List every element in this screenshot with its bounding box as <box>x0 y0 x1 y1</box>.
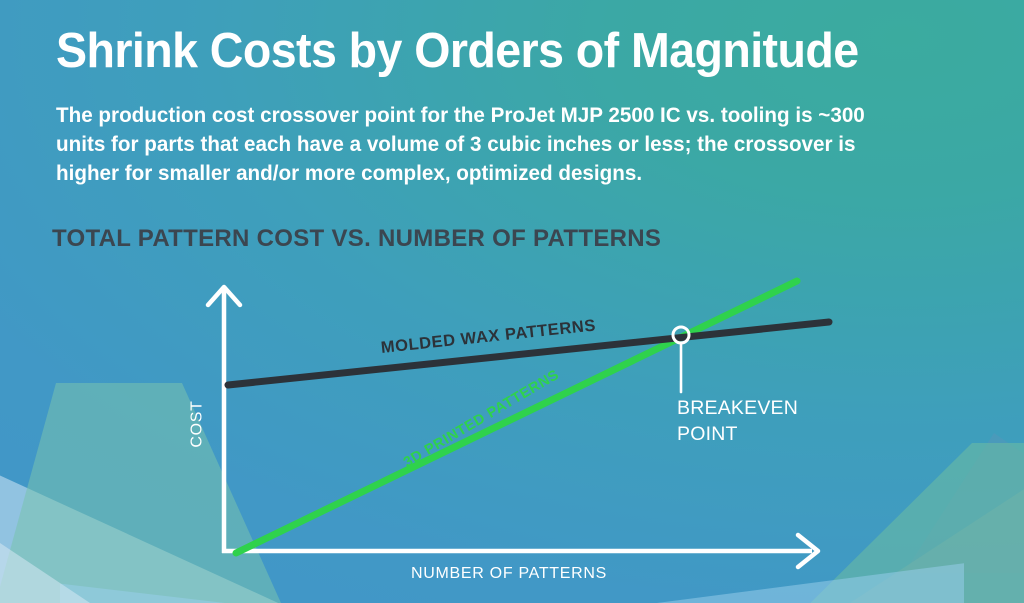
y-axis-label: COST <box>189 400 207 447</box>
chart-svg <box>0 0 1024 603</box>
x-axis <box>222 535 818 567</box>
x-axis-label: NUMBER OF PATTERNS <box>411 565 607 583</box>
infographic-canvas: Shrink Costs by Orders of Magnitude The … <box>0 0 1024 603</box>
y-axis <box>208 287 240 553</box>
breakeven-point-label: BREAKEVEN POINT <box>677 395 798 447</box>
cost-crossover-chart: COST NUMBER OF PATTERNS MOLDED WAX PATTE… <box>0 0 1024 603</box>
